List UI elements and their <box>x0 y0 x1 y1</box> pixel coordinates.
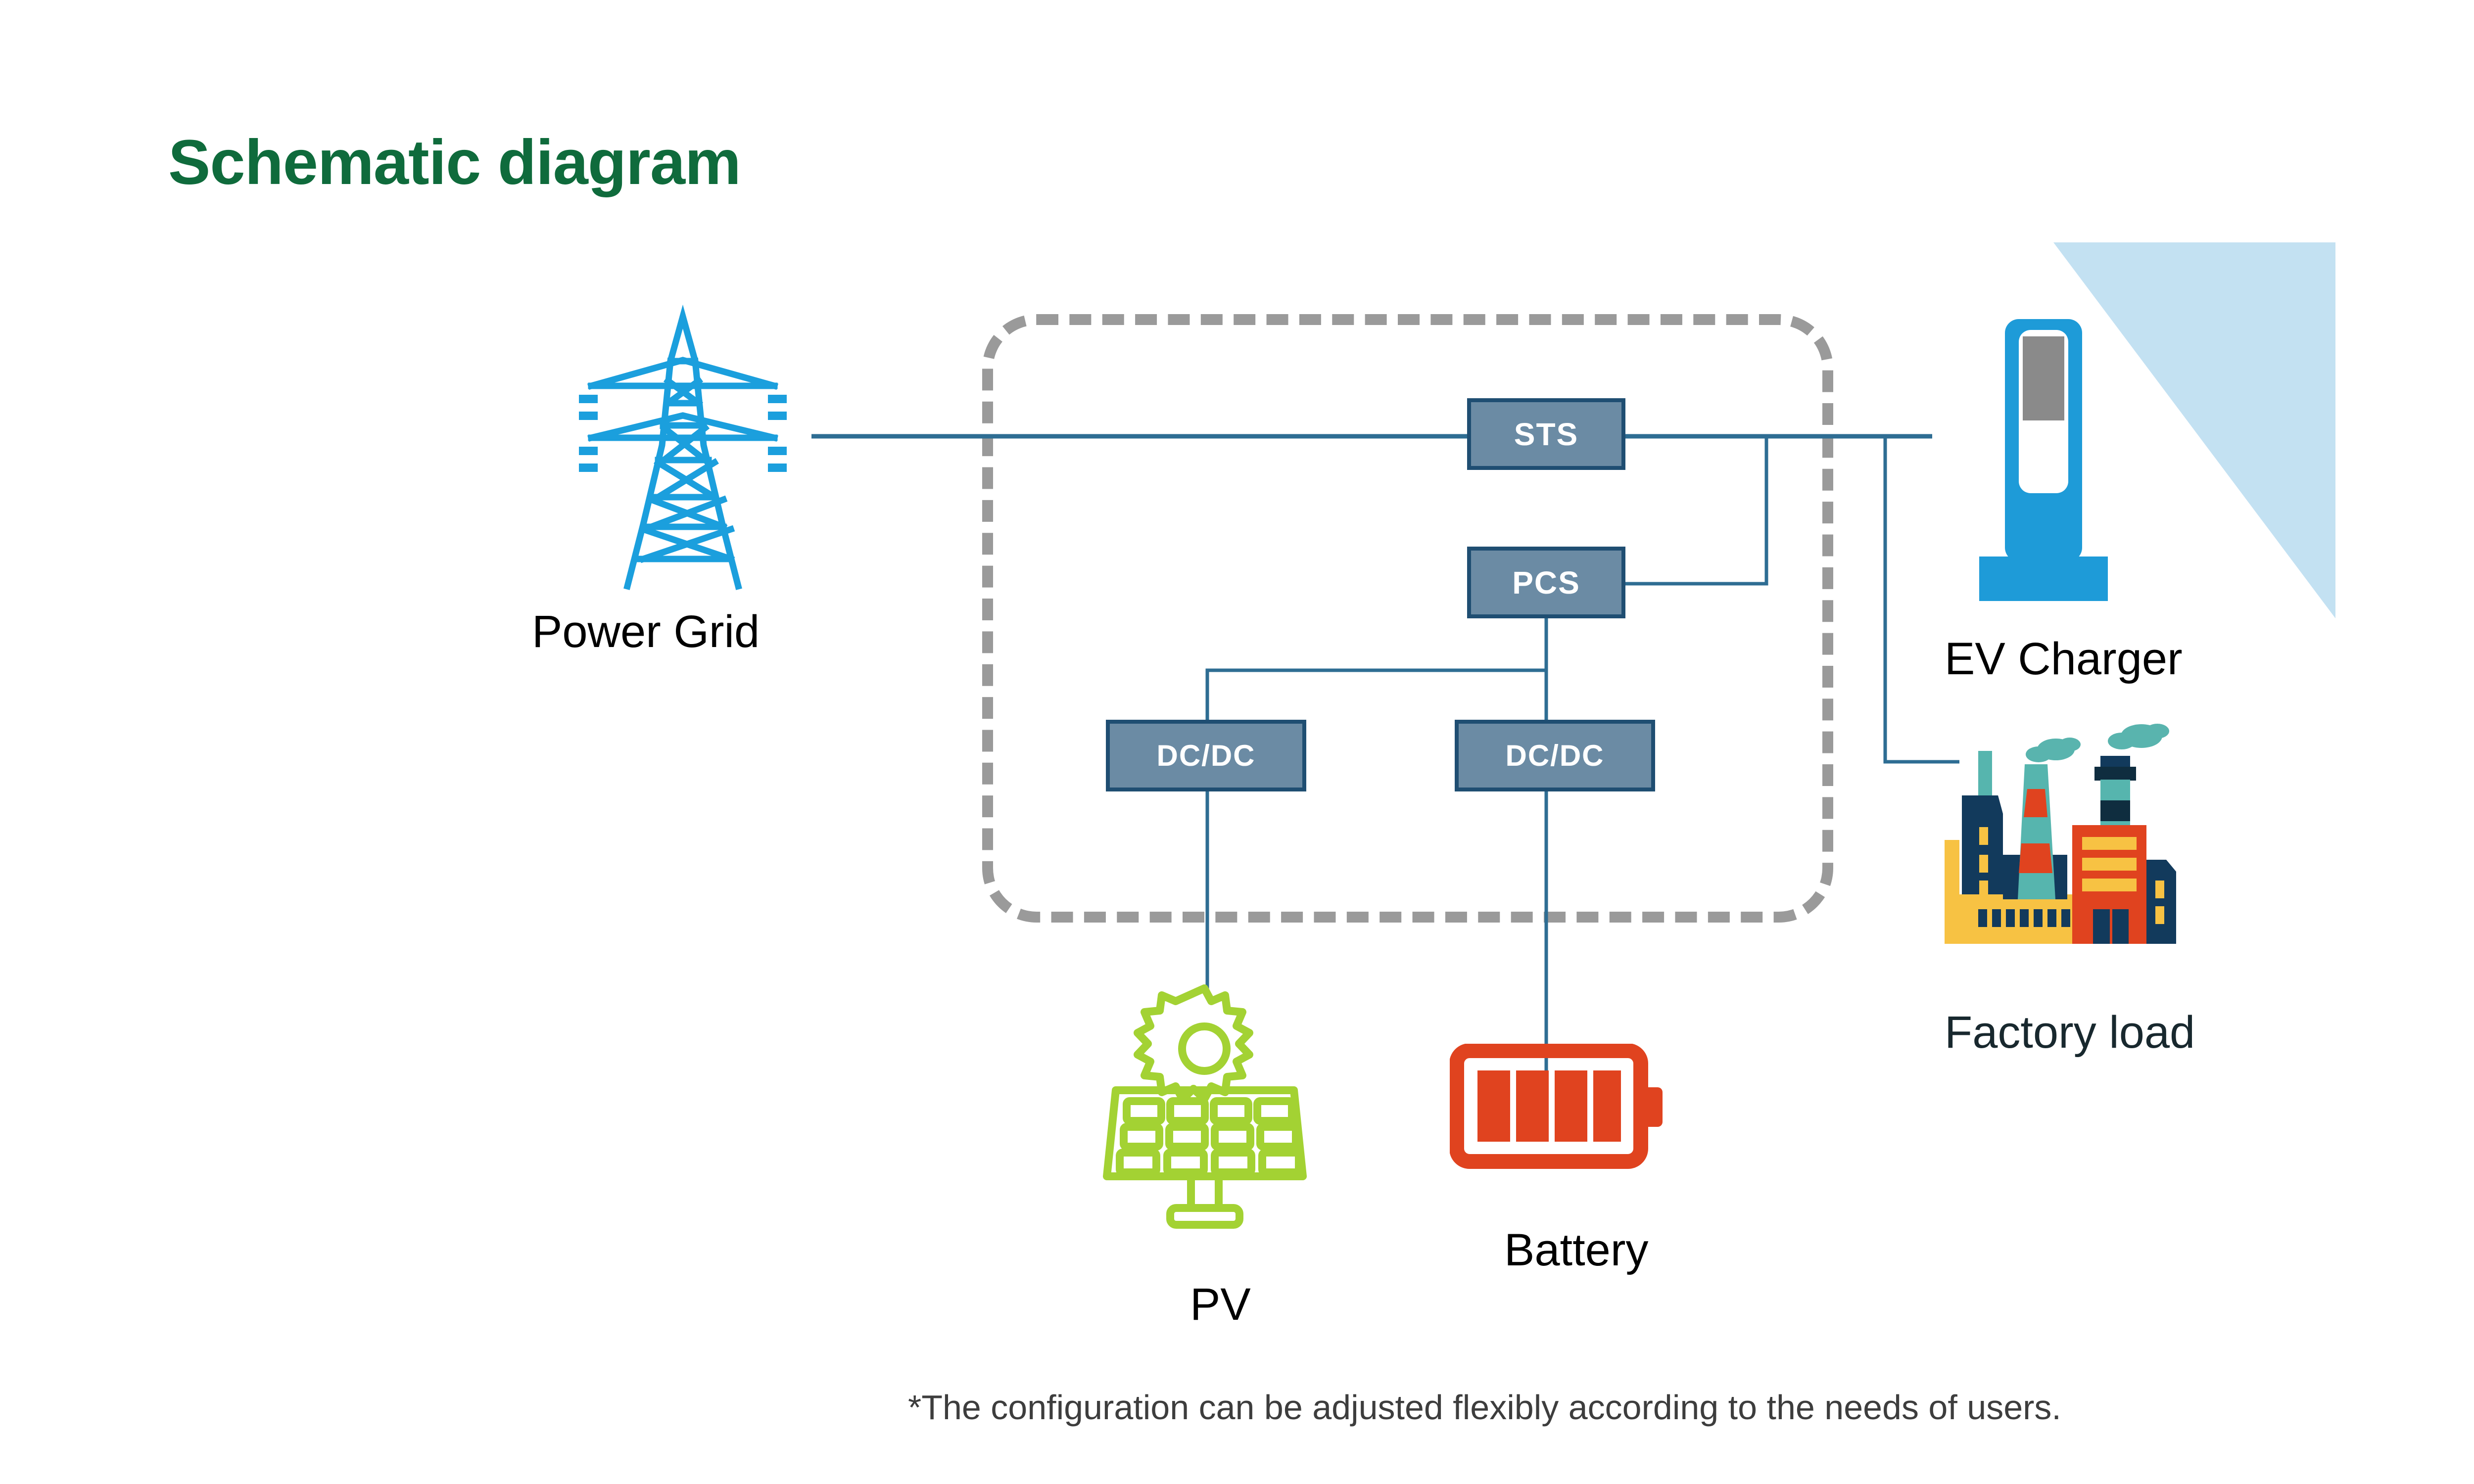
solar-panel-icon <box>1096 979 1314 1237</box>
block-dcdc-right[interactable]: DC/DC <box>1455 720 1655 791</box>
system-boundary-dashed-box <box>982 314 1833 923</box>
battery-icon <box>1450 1044 1672 1187</box>
page-title: Schematic diagram <box>168 126 741 199</box>
label-battery: Battery <box>1504 1224 1648 1276</box>
factory-icon <box>1945 712 2202 960</box>
block-sts-label: STS <box>1514 416 1578 453</box>
footnote-text: *The configuration can be adjusted flexi… <box>908 1388 2061 1427</box>
label-power-grid: Power Grid <box>532 606 760 658</box>
block-pcs-label: PCS <box>1512 564 1580 601</box>
block-dcdc-left-label: DC/DC <box>1157 739 1256 773</box>
label-pv: PV <box>1190 1279 1251 1331</box>
block-dcdc-right-label: DC/DC <box>1506 739 1605 773</box>
label-ev-charger: EV Charger <box>1945 633 2183 685</box>
block-pcs[interactable]: PCS <box>1467 547 1625 618</box>
label-factory-load: Factory load <box>1945 1007 2195 1059</box>
transmission-tower-icon <box>569 297 797 594</box>
ev-charger-icon <box>1969 309 2118 606</box>
block-dcdc-left[interactable]: DC/DC <box>1106 720 1306 791</box>
block-sts[interactable]: STS <box>1467 398 1625 470</box>
